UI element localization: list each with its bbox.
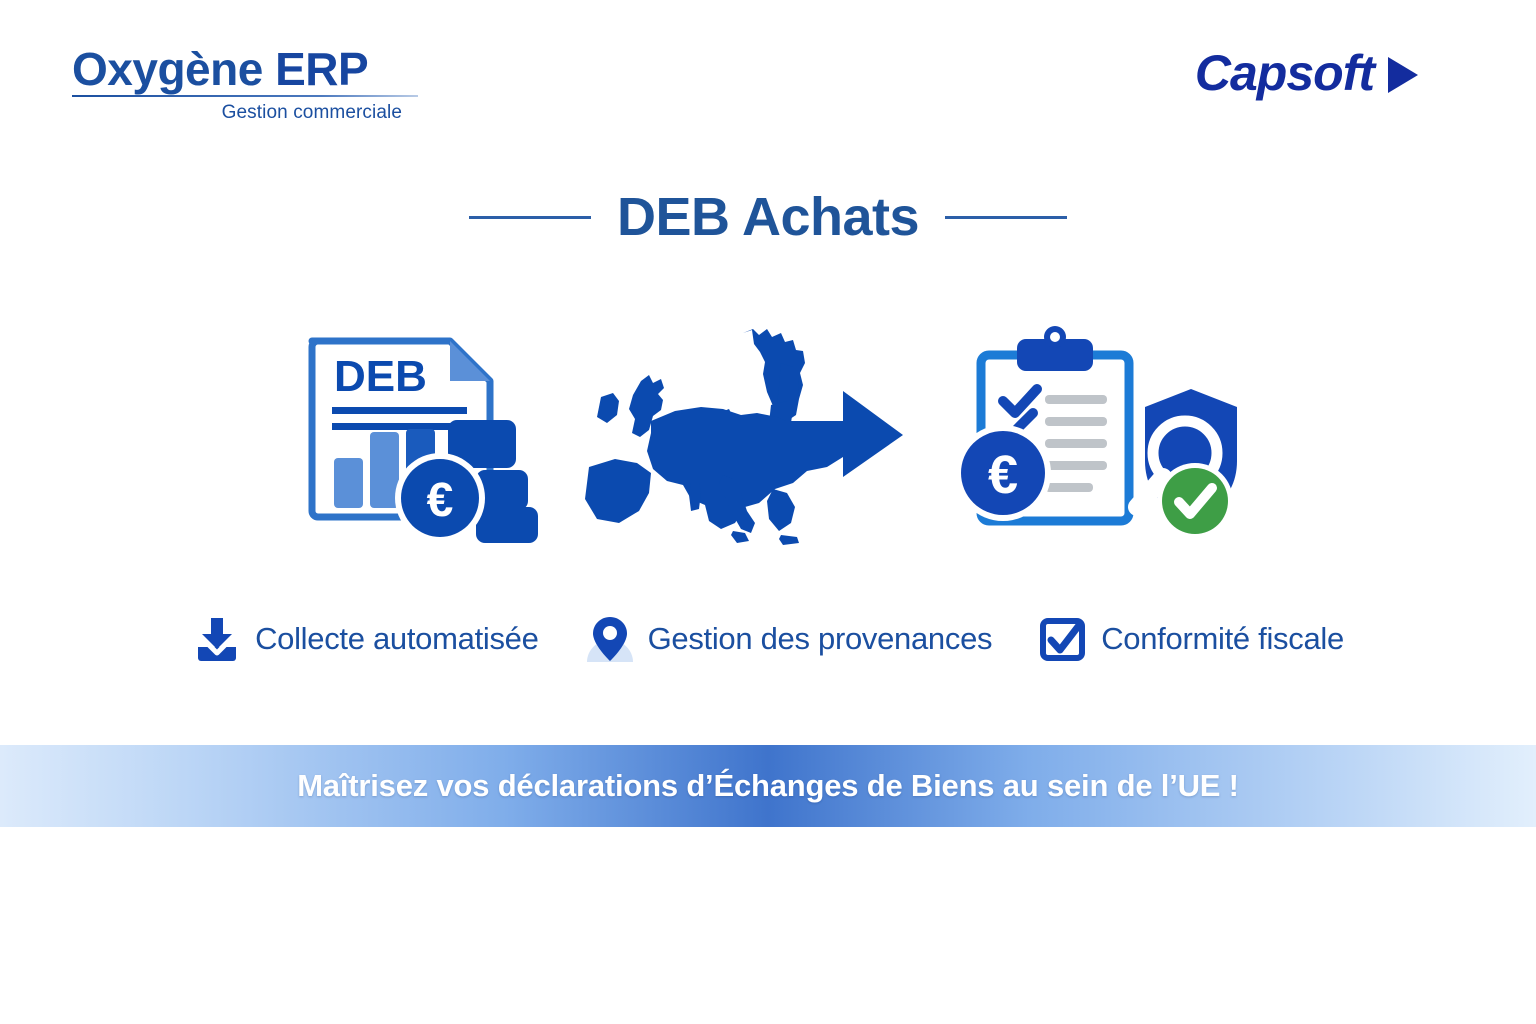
document-text-line <box>332 407 467 414</box>
checkbox-checked-icon <box>1038 614 1088 664</box>
checklist-line <box>1045 439 1107 448</box>
deb-document-illustration: DEB € <box>300 325 570 555</box>
footer-banner: Maîtrisez vos déclarations d’Échanges de… <box>0 745 1536 827</box>
capsoft-wordmark: Capsoft <box>1195 48 1374 98</box>
header: Oxygène ERP Gestion commerciale Capsoft <box>0 0 1536 160</box>
feature-conformite-fiscale[interactable]: Conformité fiscale <box>1038 614 1344 664</box>
features-row: Collecte automatisée Gestion des provena… <box>0 606 1536 672</box>
oxygene-erp-logo[interactable]: Oxygène ERP Gestion commerciale <box>72 46 432 124</box>
document-text-line <box>332 423 467 430</box>
page-title: DEB Achats <box>617 188 919 247</box>
clipboard-clip-hole <box>1050 332 1060 342</box>
capsoft-logo[interactable]: Capsoft <box>1195 48 1418 98</box>
brand-name-main: Oxygène <box>72 43 263 95</box>
brand-name-suffix: ERP <box>275 43 368 95</box>
bar-2 <box>370 432 399 508</box>
map-pin-icon <box>585 614 635 664</box>
download-inbox-icon <box>192 614 242 664</box>
document-label: DEB <box>334 352 427 401</box>
play-triangle-icon <box>1388 57 1418 93</box>
logo-underline-rule <box>72 95 418 97</box>
title-rule-left <box>469 216 591 219</box>
footer-tagline: Maîtrisez vos déclarations d’Échanges de… <box>297 768 1239 804</box>
feature-collecte-automatisee[interactable]: Collecte automatisée <box>192 614 539 664</box>
compliance-illustration: € <box>945 325 1245 555</box>
title-block: DEB Achats <box>0 188 1536 247</box>
document-folded-corner <box>450 341 490 381</box>
europe-map-illustration <box>585 325 915 555</box>
feature-label: Conformité fiscale <box>1101 621 1344 657</box>
euro-symbol: € <box>988 445 1018 505</box>
checklist-line <box>1045 395 1107 404</box>
euro-symbol: € <box>427 474 454 527</box>
feature-gestion-des-provenances[interactable]: Gestion des provenances <box>585 614 993 664</box>
bar-1 <box>334 458 363 508</box>
checklist-line <box>1045 461 1107 470</box>
brand-tagline: Gestion commerciale <box>72 102 402 124</box>
feature-label: Gestion des provenances <box>648 621 993 657</box>
title-rule-right <box>945 216 1067 219</box>
oxygene-wordmark: Oxygène ERP <box>72 46 432 92</box>
coin-block-bottom <box>476 507 538 543</box>
checklist-line <box>1045 483 1093 492</box>
checklist-line <box>1045 417 1107 426</box>
illustrations-row: DEB € <box>0 325 1536 565</box>
feature-label: Collecte automatisée <box>255 621 539 657</box>
